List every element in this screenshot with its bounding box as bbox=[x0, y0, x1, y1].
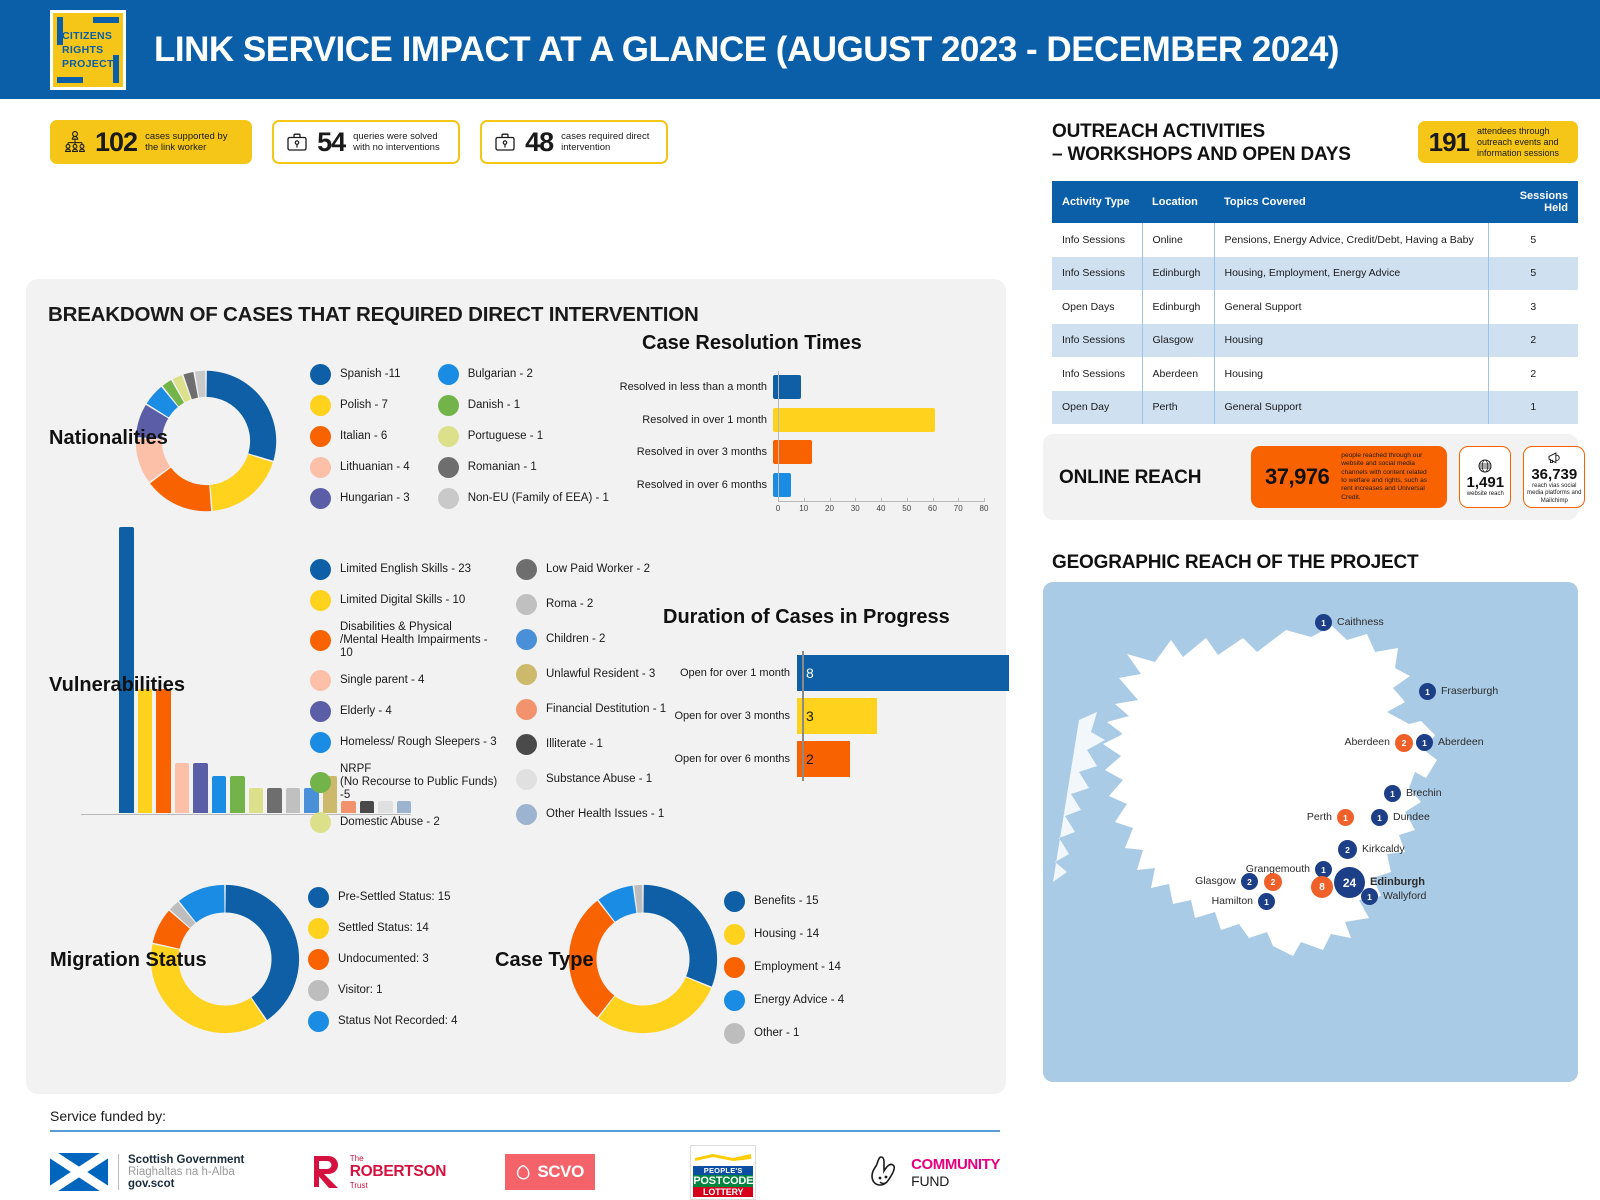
map-city-label: Aberdeen bbox=[1438, 736, 1484, 748]
kpi-cases-direct-intervention: 48 cases required direct intervention bbox=[480, 120, 668, 164]
bar-data-label: 3 bbox=[806, 708, 814, 724]
online-reach-panel: ONLINE REACH 37,976 people reached throu… bbox=[1043, 434, 1578, 520]
case-type-legend: Benefits - 15Housing - 14Employment - 14… bbox=[724, 891, 844, 1044]
legend-swatch bbox=[308, 980, 329, 1001]
table-column-header: Location bbox=[1142, 181, 1214, 223]
badge-label: attendees through outreach events and in… bbox=[1477, 126, 1567, 159]
legend-swatch bbox=[310, 559, 331, 580]
right-column: OUTREACH ACTIVITIES – WORKSHOPS AND OPEN… bbox=[1030, 99, 1600, 1131]
legend-swatch bbox=[438, 426, 459, 447]
map-city-label: Hamilton bbox=[1212, 895, 1253, 907]
legend-item-migration-status: Settled Status: 14 bbox=[308, 918, 458, 939]
funders-heading: Service funded by: bbox=[50, 1108, 1000, 1124]
axis-tick bbox=[778, 498, 779, 502]
legend-label: Elderly - 4 bbox=[340, 705, 392, 718]
legend-label: Substance Abuse - 1 bbox=[546, 773, 652, 786]
funder-scvo: SCVO bbox=[505, 1154, 691, 1190]
funder-line-1: SCVO bbox=[537, 1162, 584, 1182]
axis-tick-label: 30 bbox=[851, 504, 860, 513]
legend-label: Employment - 14 bbox=[754, 961, 841, 974]
legend-swatch bbox=[310, 701, 331, 722]
legend-swatch bbox=[310, 630, 331, 651]
legend-label: Limited Digital Skills - 10 bbox=[340, 594, 465, 607]
people-network-icon bbox=[63, 130, 87, 154]
funder-scottish-government: Scottish Government Riaghaltas na h-Alba… bbox=[50, 1153, 310, 1191]
kpi-label: cases supported by the link worker bbox=[145, 131, 239, 154]
kpi-number: 102 bbox=[95, 127, 137, 158]
legend-item-nationality: Danish - 1 bbox=[438, 395, 609, 416]
legend-swatch bbox=[724, 1023, 745, 1044]
briefcase-icon bbox=[493, 130, 517, 154]
table-row: Info SessionsOnlinePensions, Energy Advi… bbox=[1052, 223, 1578, 257]
page-title: LINK SERVICE IMPACT AT A GLANCE (AUGUST … bbox=[154, 30, 1339, 70]
axis-tick-label: 80 bbox=[980, 504, 989, 513]
table-cell: 1 bbox=[1488, 391, 1578, 425]
map-pin[interactable]: 1 bbox=[1258, 893, 1275, 910]
legend-label: Romanian - 1 bbox=[468, 461, 537, 474]
bar-row: Open for over 6 months2 bbox=[640, 737, 1020, 780]
axis-tick bbox=[958, 498, 959, 502]
map-pin[interactable]: 1 bbox=[1315, 614, 1332, 631]
online-reach-text: people reached through our website and s… bbox=[1341, 452, 1433, 502]
bar-row: Open for over 3 months3 bbox=[640, 694, 1020, 737]
online-reach-number: 37,976 bbox=[1265, 464, 1329, 490]
map-city-label: Edinburgh bbox=[1370, 876, 1425, 888]
table-header-row: Activity TypeLocationTopics CoveredSessi… bbox=[1052, 181, 1578, 223]
map-city-label: Brechin bbox=[1406, 787, 1442, 799]
social-reach-text: reach vias social media platforms and Ma… bbox=[1524, 483, 1584, 505]
funder-line-3: Trust bbox=[350, 1181, 446, 1190]
map-city-label: Aberdeen bbox=[1344, 736, 1390, 748]
map-city-label: Perth bbox=[1307, 811, 1332, 823]
legend-swatch bbox=[724, 924, 745, 945]
badge-number: 191 bbox=[1429, 127, 1469, 158]
map-pin[interactable]: 1 bbox=[1416, 734, 1433, 751]
table-column-header: Topics Covered bbox=[1214, 181, 1488, 223]
nationalities-chart-title: Nationalities bbox=[49, 427, 168, 450]
axis-tick-label: 50 bbox=[902, 504, 911, 513]
bar-category-label: Open for over 6 months bbox=[640, 753, 797, 765]
map-city-label: Fraserburgh bbox=[1441, 685, 1498, 697]
table-cell: Edinburgh bbox=[1142, 290, 1214, 324]
legend-label: Disabilities & Physical/Mental Health Im… bbox=[340, 621, 500, 660]
geographic-map: 1Caithness1Fraserburgh2Aberdeen1Aberdeen… bbox=[1043, 582, 1578, 1082]
funder-line-1: COMMUNITY bbox=[911, 1156, 1000, 1173]
table-cell: Perth bbox=[1142, 391, 1214, 425]
legend-item-vulnerability: Single parent - 4 bbox=[310, 670, 500, 691]
legend-swatch bbox=[516, 734, 537, 755]
axis-line bbox=[778, 371, 779, 501]
case-type-chart-title: Case Type bbox=[495, 949, 594, 972]
website-reach-text: website reach bbox=[1467, 491, 1504, 498]
logo-bracket bbox=[93, 17, 119, 23]
legend-swatch bbox=[308, 887, 329, 908]
social-reach-card: 36,739 reach vias social media platforms… bbox=[1523, 446, 1585, 508]
legend-label: Roma - 2 bbox=[546, 598, 593, 611]
breakdown-title: BREAKDOWN OF CASES THAT REQUIRED DIRECT … bbox=[48, 303, 699, 327]
legend-label: Low Paid Worker - 2 bbox=[546, 563, 650, 576]
legend-swatch bbox=[438, 457, 459, 478]
funders-section: Service funded by: Scottish Government R… bbox=[50, 1108, 1000, 1200]
table-cell: General Support bbox=[1214, 290, 1488, 324]
map-pin[interactable]: 2 bbox=[1241, 873, 1258, 890]
legend-swatch bbox=[724, 891, 745, 912]
logo: CITIZENS RIGHTS PROJECT bbox=[50, 10, 126, 90]
legend-label: Single parent - 4 bbox=[340, 674, 424, 687]
funder-line-2: Riaghaltas na h-Alba bbox=[128, 1166, 244, 1178]
legend-label: Other - 1 bbox=[754, 1027, 799, 1040]
website-reach-number: 1,491 bbox=[1467, 474, 1505, 491]
legend-item-nationality: Romanian - 1 bbox=[438, 457, 609, 478]
axis-tick bbox=[984, 498, 985, 502]
table-cell: Edinburgh bbox=[1142, 257, 1214, 291]
table-cell: General Support bbox=[1214, 391, 1488, 425]
bar bbox=[119, 527, 134, 813]
funder-line-2: FUND bbox=[911, 1173, 1000, 1189]
legend-item-nationality: Bulgarian - 2 bbox=[438, 364, 609, 385]
legend-swatch bbox=[438, 395, 459, 416]
axis-line bbox=[802, 651, 804, 781]
map-pin[interactable]: 2 bbox=[1264, 873, 1282, 891]
legend-item-vulnerability: NRPF(No Recourse to Public Funds) -5 bbox=[310, 763, 500, 802]
table-cell: Housing bbox=[1214, 324, 1488, 358]
crossed-fingers-icon bbox=[871, 1153, 907, 1191]
donut-segment bbox=[207, 371, 277, 461]
legend-label: Children - 2 bbox=[546, 633, 605, 646]
legend-item-migration-status: Pre-Settled Status: 15 bbox=[308, 887, 458, 908]
logo-bracket bbox=[57, 77, 83, 83]
vulnerabilities-chart-title: Vulnerabilities bbox=[49, 674, 185, 697]
funder-line-1: PEOPLE'S bbox=[693, 1166, 753, 1175]
case-resolution-title: Case Resolution Times bbox=[642, 332, 862, 355]
map-pin[interactable]: 1 bbox=[1371, 809, 1388, 826]
legend-label: Italian - 6 bbox=[340, 430, 387, 443]
axis-tick-label: 10 bbox=[799, 504, 808, 513]
legend-swatch bbox=[438, 488, 459, 509]
axis-tick bbox=[804, 498, 805, 502]
legend-swatch bbox=[310, 426, 331, 447]
legend-item-vulnerability: Elderly - 4 bbox=[310, 701, 500, 722]
map-city-label: Dundee bbox=[1393, 811, 1430, 823]
legend-swatch bbox=[516, 629, 537, 650]
axis-tick bbox=[830, 498, 831, 502]
legend-swatch bbox=[516, 664, 537, 685]
online-reach-title: ONLINE REACH bbox=[1059, 466, 1239, 489]
legend-swatch bbox=[310, 364, 331, 385]
online-reach-main-card: 37,976 people reached through our websit… bbox=[1251, 446, 1447, 508]
ribbon-icon bbox=[693, 1152, 753, 1161]
legend-item-nationality: Lithuanian - 4 bbox=[310, 457, 410, 478]
robertson-r-icon bbox=[310, 1153, 344, 1191]
logo-line-3: PROJECT bbox=[62, 57, 114, 71]
donut-segment bbox=[225, 885, 299, 1020]
legend-label: Portuguese - 1 bbox=[468, 430, 543, 443]
funder-community-fund: COMMUNITY FUND bbox=[871, 1153, 1000, 1191]
bar bbox=[267, 788, 282, 813]
bar-row: Resolved in over 3 months bbox=[618, 436, 984, 469]
legend-item-nationality: Spanish -11 bbox=[310, 364, 410, 385]
scotland-map-shape bbox=[1043, 582, 1578, 1082]
legend-swatch bbox=[310, 732, 331, 753]
table-cell: Online bbox=[1142, 223, 1214, 257]
bar: 3 bbox=[797, 698, 877, 734]
megaphone-icon bbox=[1546, 451, 1563, 466]
table-row: Open DayPerthGeneral Support1 bbox=[1052, 391, 1578, 425]
donut-segment bbox=[599, 977, 712, 1033]
migration-status-legend: Pre-Settled Status: 15Settled Status: 14… bbox=[308, 887, 458, 1032]
axis-tick-label: 40 bbox=[877, 504, 886, 513]
bar bbox=[286, 788, 301, 813]
map-city-label: Kirkcaldy bbox=[1362, 843, 1405, 855]
table-cell: 5 bbox=[1488, 223, 1578, 257]
legend-label: NRPF(No Recourse to Public Funds) -5 bbox=[340, 763, 500, 802]
legend-item-case-type: Benefits - 15 bbox=[724, 891, 844, 912]
legend-label: Hungarian - 3 bbox=[340, 492, 410, 505]
legend-item-nationality: Polish - 7 bbox=[310, 395, 410, 416]
funder-robertson-trust: The ROBERTSON Trust bbox=[310, 1153, 505, 1191]
outreach-table: Activity TypeLocationTopics CoveredSessi… bbox=[1052, 181, 1578, 424]
legend-item-nationality: Hungarian - 3 bbox=[310, 488, 410, 509]
legend-swatch bbox=[310, 488, 331, 509]
legend-label: Limited English Skills - 23 bbox=[340, 563, 471, 576]
legend-item-vulnerability: Disabilities & Physical/Mental Health Im… bbox=[310, 621, 500, 660]
table-cell: Pensions, Energy Advice, Credit/Debt, Ha… bbox=[1214, 223, 1488, 257]
legend-swatch bbox=[516, 594, 537, 615]
page-header: CITIZENS RIGHTS PROJECT LINK SERVICE IMP… bbox=[0, 0, 1600, 99]
kpi-row: 102 cases supported by the link worker 5… bbox=[0, 99, 1030, 164]
bar bbox=[773, 473, 791, 497]
table-cell: Aberdeen bbox=[1142, 357, 1214, 391]
legend-label: Bulgarian - 2 bbox=[468, 368, 533, 381]
bar-category-label: Resolved in over 1 month bbox=[618, 414, 773, 426]
legend-swatch bbox=[310, 457, 331, 478]
bar bbox=[249, 788, 264, 813]
axis-tick bbox=[907, 498, 908, 502]
axis-tick-label: 60 bbox=[928, 504, 937, 513]
bar: 2 bbox=[797, 741, 850, 777]
legend-label: Homeless/ Rough Sleepers - 3 bbox=[340, 736, 497, 749]
logo-line-2: RIGHTS bbox=[62, 43, 103, 57]
table-row: Info SessionsGlasgowHousing2 bbox=[1052, 324, 1578, 358]
legend-item-vulnerability: Children - 2 bbox=[516, 629, 696, 650]
map-pin[interactable]: 2 bbox=[1395, 734, 1413, 752]
funder-line-1: The bbox=[350, 1154, 446, 1163]
nationalities-legend: Spanish -11Polish - 7Italian - 6Lithuani… bbox=[310, 364, 609, 509]
left-column: 102 cases supported by the link worker 5… bbox=[0, 99, 1030, 1131]
table-column-header: Activity Type bbox=[1052, 181, 1142, 223]
table-row: Info SessionsAberdeenHousing2 bbox=[1052, 357, 1578, 391]
outreach-title-line-1: OUTREACH ACTIVITIES bbox=[1052, 120, 1351, 143]
bar-row: Resolved in over 1 month bbox=[618, 404, 984, 437]
bar-row: Resolved in over 6 months bbox=[618, 469, 984, 502]
social-reach-number: 36,739 bbox=[1531, 466, 1577, 483]
logo-line-1: CITIZENS bbox=[62, 29, 112, 43]
bar-category-label: Resolved in over 6 months bbox=[618, 479, 773, 491]
legend-item-vulnerability: Low Paid Worker - 2 bbox=[516, 559, 696, 580]
website-reach-card: 1,491 website reach bbox=[1459, 446, 1511, 508]
kpi-number: 48 bbox=[525, 127, 553, 158]
legend-item-vulnerability: Domestic Abuse - 2 bbox=[310, 812, 500, 833]
legend-label: Spanish -11 bbox=[340, 368, 401, 381]
legend-item-case-type: Housing - 14 bbox=[724, 924, 844, 945]
legend-swatch bbox=[516, 804, 537, 825]
table-cell: 5 bbox=[1488, 257, 1578, 291]
map-pin[interactable]: 1 bbox=[1361, 888, 1378, 905]
table-cell: Open Day bbox=[1052, 391, 1142, 425]
legend-label: Illiterate - 1 bbox=[546, 738, 603, 751]
outreach-header: OUTREACH ACTIVITIES – WORKSHOPS AND OPEN… bbox=[1052, 120, 1351, 166]
outreach-attendees-badge: 191 attendees through outreach events an… bbox=[1418, 121, 1578, 163]
bar-row: Resolved in less than a month bbox=[618, 371, 984, 404]
legend-item-vulnerability: Limited Digital Skills - 10 bbox=[310, 590, 500, 611]
funder-peoples-postcode-lottery: PEOPLE'S POSTCODE LOTTERY bbox=[690, 1145, 871, 1200]
saltire-flag-icon bbox=[50, 1153, 108, 1191]
legend-swatch bbox=[516, 559, 537, 580]
table-cell: Info Sessions bbox=[1052, 257, 1142, 291]
legend-label: Energy Advice - 4 bbox=[754, 994, 844, 1007]
table-cell: Info Sessions bbox=[1052, 357, 1142, 391]
legend-item-vulnerability: Homeless/ Rough Sleepers - 3 bbox=[310, 732, 500, 753]
legend-item-vulnerability: Other Health Issues - 1 bbox=[516, 804, 696, 825]
bar bbox=[138, 689, 153, 813]
legend-label: Polish - 7 bbox=[340, 399, 388, 412]
legend-swatch bbox=[308, 918, 329, 939]
map-city-label: Wallyford bbox=[1383, 890, 1426, 902]
legend-item-migration-status: Status Not Recorded: 4 bbox=[308, 1011, 458, 1032]
bar-category-label: Open for over 3 months bbox=[640, 710, 797, 722]
table-cell: Housing, Employment, Energy Advice bbox=[1214, 257, 1488, 291]
axis-tick bbox=[855, 498, 856, 502]
funder-line-3: gov.scot bbox=[128, 1178, 244, 1190]
funder-line-2: ROBERTSON bbox=[350, 1163, 446, 1181]
briefcase-icon bbox=[285, 130, 309, 154]
scvo-mark-icon bbox=[515, 1164, 532, 1181]
legend-label: Non-EU (Family of EEA) - 1 bbox=[468, 492, 609, 505]
legend-item-case-type: Employment - 14 bbox=[724, 957, 844, 978]
table-cell: 3 bbox=[1488, 290, 1578, 324]
legend-swatch bbox=[310, 772, 331, 793]
donut-segment bbox=[210, 454, 273, 510]
bar bbox=[230, 776, 245, 813]
legend-swatch bbox=[310, 395, 331, 416]
legend-swatch bbox=[308, 1011, 329, 1032]
map-city-label: Grangemouth bbox=[1246, 863, 1310, 875]
bar-data-label: 8 bbox=[806, 665, 814, 681]
table-column-header: Sessions Held bbox=[1488, 181, 1578, 223]
bar bbox=[175, 763, 190, 813]
outreach-title-line-2: – WORKSHOPS AND OPEN DAYS bbox=[1052, 143, 1351, 166]
case-resolution-chart: Resolved in less than a monthResolved in… bbox=[618, 371, 988, 511]
legend-item-case-type: Other - 1 bbox=[724, 1023, 844, 1044]
bar-category-label: Open for over 1 month bbox=[640, 667, 797, 679]
legend-swatch bbox=[724, 957, 745, 978]
legend-label: Housing - 14 bbox=[754, 928, 819, 941]
legend-item-case-type: Energy Advice - 4 bbox=[724, 990, 844, 1011]
bar-row: Open for over 1 month8 bbox=[640, 651, 1020, 694]
legend-item-vulnerability: Limited English Skills - 23 bbox=[310, 559, 500, 580]
legend-label: Pre-Settled Status: 15 bbox=[338, 891, 451, 904]
table-cell: Housing bbox=[1214, 357, 1488, 391]
funder-line-2: POSTCODE bbox=[693, 1175, 753, 1187]
legend-label: Visitor: 1 bbox=[338, 984, 383, 997]
map-pin[interactable]: 2 bbox=[1338, 840, 1357, 859]
bar-category-label: Resolved in over 3 months bbox=[618, 446, 773, 458]
legend-swatch bbox=[724, 990, 745, 1011]
table-cell: Glasgow bbox=[1142, 324, 1214, 358]
kpi-queries-solved: 54 queries were solved with no intervent… bbox=[272, 120, 460, 164]
table-row: Open DaysEdinburghGeneral Support3 bbox=[1052, 290, 1578, 324]
map-pin[interactable]: 1 bbox=[1384, 785, 1401, 802]
map-city-label: Caithness bbox=[1337, 616, 1384, 628]
legend-swatch bbox=[516, 699, 537, 720]
table-cell: 2 bbox=[1488, 357, 1578, 391]
legend-item-nationality: Italian - 6 bbox=[310, 426, 410, 447]
table-row: Info SessionsEdinburghHousing, Employmen… bbox=[1052, 257, 1578, 291]
axis-tick bbox=[881, 498, 882, 502]
outreach-table-wrap: Activity TypeLocationTopics CoveredSessi… bbox=[1052, 181, 1578, 424]
table-cell: Info Sessions bbox=[1052, 223, 1142, 257]
geographic-title: GEOGRAPHIC REACH OF THE PROJECT bbox=[1052, 551, 1418, 574]
funder-line-3: LOTTERY bbox=[693, 1187, 753, 1197]
globe-icon bbox=[1477, 458, 1493, 474]
legend-label: Settled Status: 14 bbox=[338, 922, 429, 935]
legend-swatch bbox=[310, 590, 331, 611]
bar-category-label: Resolved in less than a month bbox=[618, 381, 773, 393]
legend-label: Domestic Abuse - 2 bbox=[340, 816, 440, 829]
duration-chart: Open for over 1 month8Open for over 3 mo… bbox=[640, 651, 1020, 786]
kpi-number: 54 bbox=[317, 127, 345, 158]
legend-label: Lithuanian - 4 bbox=[340, 461, 410, 474]
legend-label: Status Not Recorded: 4 bbox=[338, 1015, 458, 1028]
axis-tick bbox=[933, 498, 934, 502]
map-pin[interactable]: 1 bbox=[1337, 809, 1354, 826]
table-cell: 2 bbox=[1488, 324, 1578, 358]
legend-item-nationality: Non-EU (Family of EEA) - 1 bbox=[438, 488, 609, 509]
breakdown-panel: BREAKDOWN OF CASES THAT REQUIRED DIRECT … bbox=[26, 279, 1006, 1094]
bar bbox=[156, 689, 171, 813]
vulnerabilities-legend: Limited English Skills - 23Limited Digit… bbox=[310, 559, 696, 833]
kpi-label: cases required direct intervention bbox=[561, 131, 655, 154]
bar: 8 bbox=[797, 655, 1009, 691]
axis-tick-label: 0 bbox=[776, 504, 780, 513]
bar bbox=[773, 408, 935, 432]
legend-label: Danish - 1 bbox=[468, 399, 520, 412]
table-cell: Open Days bbox=[1052, 290, 1142, 324]
legend-item-migration-status: Undocumented: 3 bbox=[308, 949, 458, 970]
funder-logo-row: Scottish Government Riaghaltas na h-Alba… bbox=[50, 1145, 1000, 1200]
legend-swatch bbox=[310, 812, 331, 833]
map-pin[interactable]: 8 bbox=[1311, 876, 1333, 898]
table-cell: Info Sessions bbox=[1052, 324, 1142, 358]
map-city-label: Glasgow bbox=[1195, 875, 1236, 887]
bar-data-label: 2 bbox=[806, 751, 814, 767]
bar bbox=[193, 763, 208, 813]
funder-line-1: Scottish Government bbox=[128, 1154, 244, 1166]
kpi-cases-supported: 102 cases supported by the link worker bbox=[50, 120, 252, 164]
legend-label: Undocumented: 3 bbox=[338, 953, 429, 966]
legend-swatch bbox=[308, 949, 329, 970]
map-pin[interactable]: 1 bbox=[1419, 683, 1436, 700]
legend-label: Benefits - 15 bbox=[754, 895, 819, 908]
legend-label: Unlawful Resident - 3 bbox=[546, 668, 655, 681]
migration-status-chart-title: Migration Status bbox=[50, 949, 207, 972]
legend-swatch bbox=[310, 670, 331, 691]
legend-swatch bbox=[516, 769, 537, 790]
legend-swatch bbox=[438, 364, 459, 385]
donut-segment bbox=[643, 885, 717, 987]
legend-item-migration-status: Visitor: 1 bbox=[308, 980, 458, 1001]
axis-tick-label: 70 bbox=[954, 504, 963, 513]
